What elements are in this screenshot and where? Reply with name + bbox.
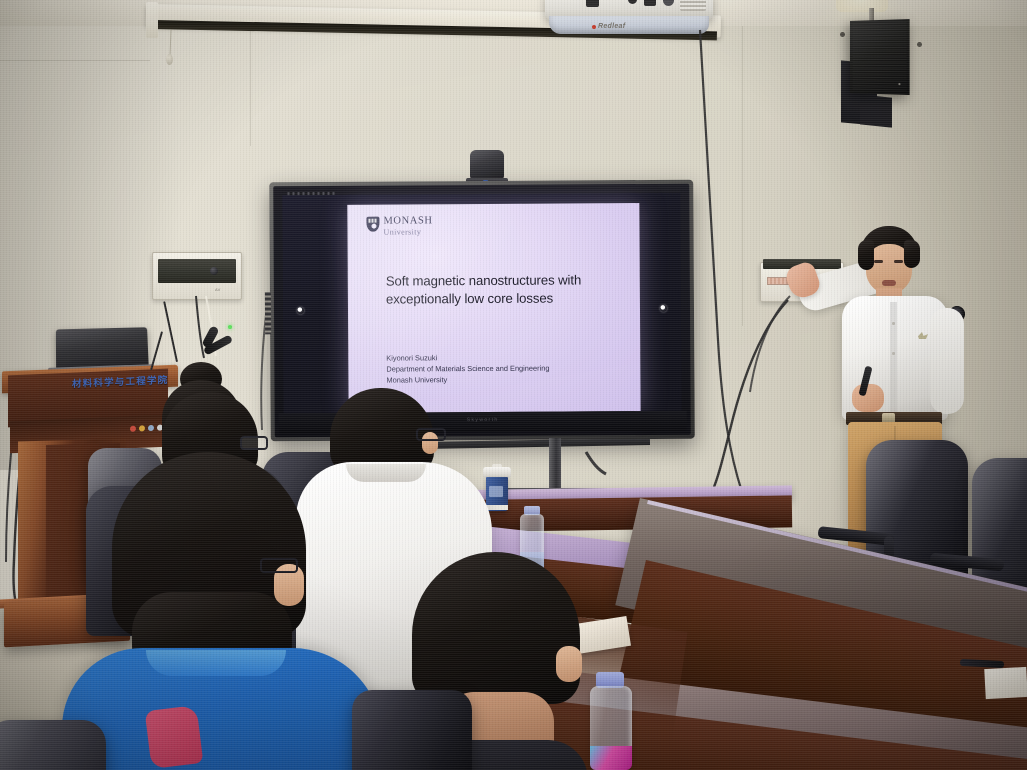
monash-logo-subtitle: University	[383, 228, 432, 236]
presenter-shirt-button-2	[892, 352, 895, 355]
water-bottle-foreground-label	[590, 746, 632, 770]
monash-logo-name: MONASH	[383, 216, 432, 227]
speaker-wall-anchor-2	[917, 42, 922, 47]
presentation-slide: MONASH University Soft magnetic nanostru…	[347, 203, 640, 413]
audience-blue-tshirt	[62, 452, 392, 770]
av-panel-left-display	[158, 259, 236, 283]
presenter-right-hand	[852, 384, 884, 412]
monash-wordmark: MONASH University	[383, 216, 432, 236]
speaker-badge: ●	[898, 81, 902, 87]
presenter-shirt-button-1	[892, 322, 895, 325]
seminar-room-photo: Redleaf ● AV IN	[0, 0, 1027, 770]
audience-blue-tshirt-graphic	[145, 705, 204, 769]
projector-port-3	[644, 0, 656, 6]
projector-vent-icon	[680, 0, 706, 11]
wall-speaker: ●	[850, 19, 910, 95]
podium-button-2[interactable]	[139, 425, 145, 431]
presenter-right-arm	[930, 308, 964, 414]
projection-screen-cord-bead[interactable]	[166, 54, 173, 65]
projector-brand-label: Redleaf	[598, 23, 625, 30]
slide-title: Soft magnetic nanostructures with except…	[386, 271, 614, 308]
presenter-shirt-placket	[890, 302, 897, 414]
display-stand-neck	[549, 438, 561, 492]
slide-author-block: Kiyonori Suzuki Department of Materials …	[386, 351, 622, 386]
presenter-hair-side-right	[904, 240, 920, 268]
podium-mic-led	[228, 325, 232, 329]
podium-button-1[interactable]	[130, 426, 136, 432]
wall-seam-vertical-2	[742, 26, 743, 326]
av-panel-left-label: AV	[215, 287, 221, 292]
display-side-buttons[interactable]	[265, 292, 271, 334]
projector-port-1	[586, 0, 599, 7]
chair-bottom-left[interactable]	[0, 720, 106, 770]
slide-title-line-1: Soft magnetic nanostructures with	[386, 271, 614, 290]
display-panel: MONASH University Soft magnetic nanostru…	[282, 193, 681, 415]
projection-screen-endcap	[146, 2, 158, 38]
chair-front-right[interactable]	[352, 690, 472, 770]
audience-dark-2-glasses-icon	[240, 436, 268, 450]
audience-blue-tshirt-collar	[146, 650, 286, 676]
presenter-mouth	[882, 280, 896, 286]
paper-sheet[interactable]	[984, 667, 1027, 699]
audience-blue-tshirt-glasses-icon	[260, 558, 298, 573]
monash-shield-crest-icon	[366, 217, 379, 232]
display-ir-sensor-right-icon	[660, 305, 667, 312]
display-ir-sensor-left-icon	[297, 307, 304, 314]
audience-front-right-ear	[556, 646, 582, 682]
projector-lens-housing	[549, 16, 709, 34]
av-panel-left-jack[interactable]	[210, 267, 218, 275]
slide-title-line-2: exceptionally low core losses	[386, 289, 614, 308]
wall-seam-horizontal	[0, 60, 150, 61]
presenter-eye-right	[894, 260, 903, 263]
audience-front-right-hair	[412, 552, 580, 704]
conference-camera	[470, 150, 504, 180]
speaker-wall-anchor-1	[840, 32, 845, 37]
speaker-bracket-lower	[860, 94, 892, 127]
av-panel-left[interactable]: AV	[152, 252, 242, 300]
presenter-hair-side	[858, 240, 874, 270]
monash-logo: MONASH University	[366, 216, 432, 236]
wall-seam-vertical-1	[250, 26, 251, 146]
audience-white-shirt-glasses-icon	[416, 428, 446, 441]
presenter-eye-left	[874, 260, 883, 263]
slide-author-affiliation: Monash University	[386, 373, 622, 386]
projector-status-led	[592, 25, 596, 29]
podium-button-3[interactable]	[148, 425, 154, 431]
